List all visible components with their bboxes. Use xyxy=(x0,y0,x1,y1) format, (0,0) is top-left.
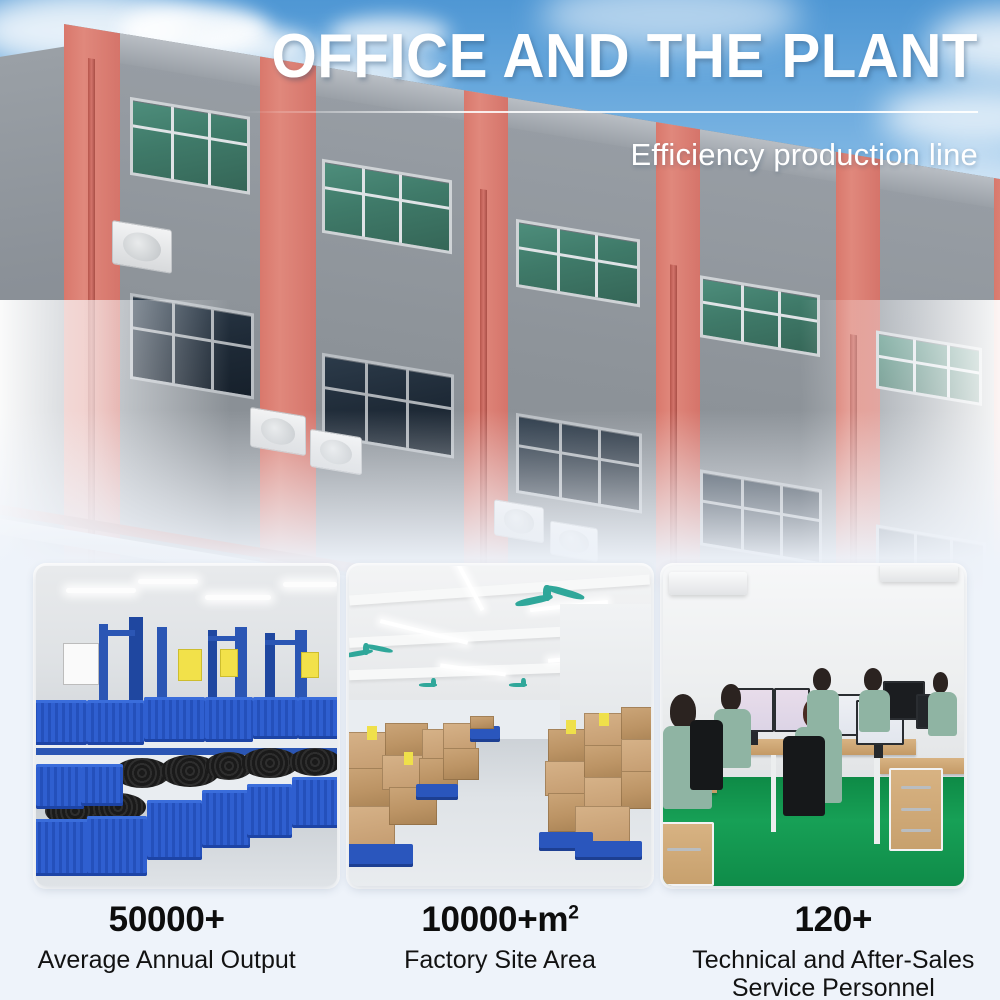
pallet xyxy=(349,844,412,866)
office-workstations-image xyxy=(663,566,964,886)
packing-aisle-image xyxy=(349,566,650,886)
rack-label-sign xyxy=(63,643,99,685)
page-subtitle: Efficiency production line xyxy=(218,137,978,173)
rack-label-sign xyxy=(220,649,238,677)
drawer-cabinet xyxy=(889,768,943,851)
gallery-card-packing-aisle[interactable] xyxy=(349,566,650,886)
warehouse-crates-image xyxy=(36,566,337,886)
stat-service-personnel: 120+ Technical and After-Sales Service P… xyxy=(667,890,1000,1000)
office-worker xyxy=(928,672,958,736)
ceiling-fan-icon xyxy=(419,678,449,690)
photo-card-gallery xyxy=(36,566,964,886)
office-worker xyxy=(807,668,840,732)
pallet xyxy=(575,841,641,860)
stat-label: Average Annual Output xyxy=(0,946,333,974)
pallet xyxy=(416,784,458,800)
hero-headline: OFFICE AND THE PLANT Efficiency producti… xyxy=(218,24,978,173)
office-chair xyxy=(690,720,723,790)
office-worker xyxy=(859,668,892,732)
promo-banner: OFFICE AND THE PLANT Efficiency producti… xyxy=(0,0,1000,1000)
stat-label: Technical and After-Sales Service Person… xyxy=(667,946,1000,1000)
air-conditioner-indoor-unit xyxy=(669,572,747,594)
page-title: OFFICE AND THE PLANT xyxy=(264,24,978,89)
title-divider xyxy=(238,111,978,113)
stat-value: 10000+m2 xyxy=(333,898,666,942)
stat-label: Factory Site Area xyxy=(333,946,666,974)
stat-value: 50000+ xyxy=(0,898,333,942)
stats-row: 50000+ Average Annual Output 10000+m2 Fa… xyxy=(0,890,1000,1000)
ceiling-fan-icon xyxy=(349,643,393,661)
stat-factory-site-area: 10000+m2 Factory Site Area xyxy=(333,890,666,1000)
drawer-cabinet xyxy=(663,822,714,886)
air-conditioner-indoor-unit xyxy=(880,566,958,582)
rack-label-sign xyxy=(301,652,319,678)
stat-value: 120+ xyxy=(667,898,1000,942)
office-chair xyxy=(783,736,825,816)
ceiling-fan-icon xyxy=(509,678,539,690)
stat-average-annual-output: 50000+ Average Annual Output xyxy=(0,890,333,1000)
gallery-card-office[interactable] xyxy=(663,566,964,886)
gallery-card-warehouse-crates[interactable] xyxy=(36,566,337,886)
rack-label-sign xyxy=(178,649,202,681)
